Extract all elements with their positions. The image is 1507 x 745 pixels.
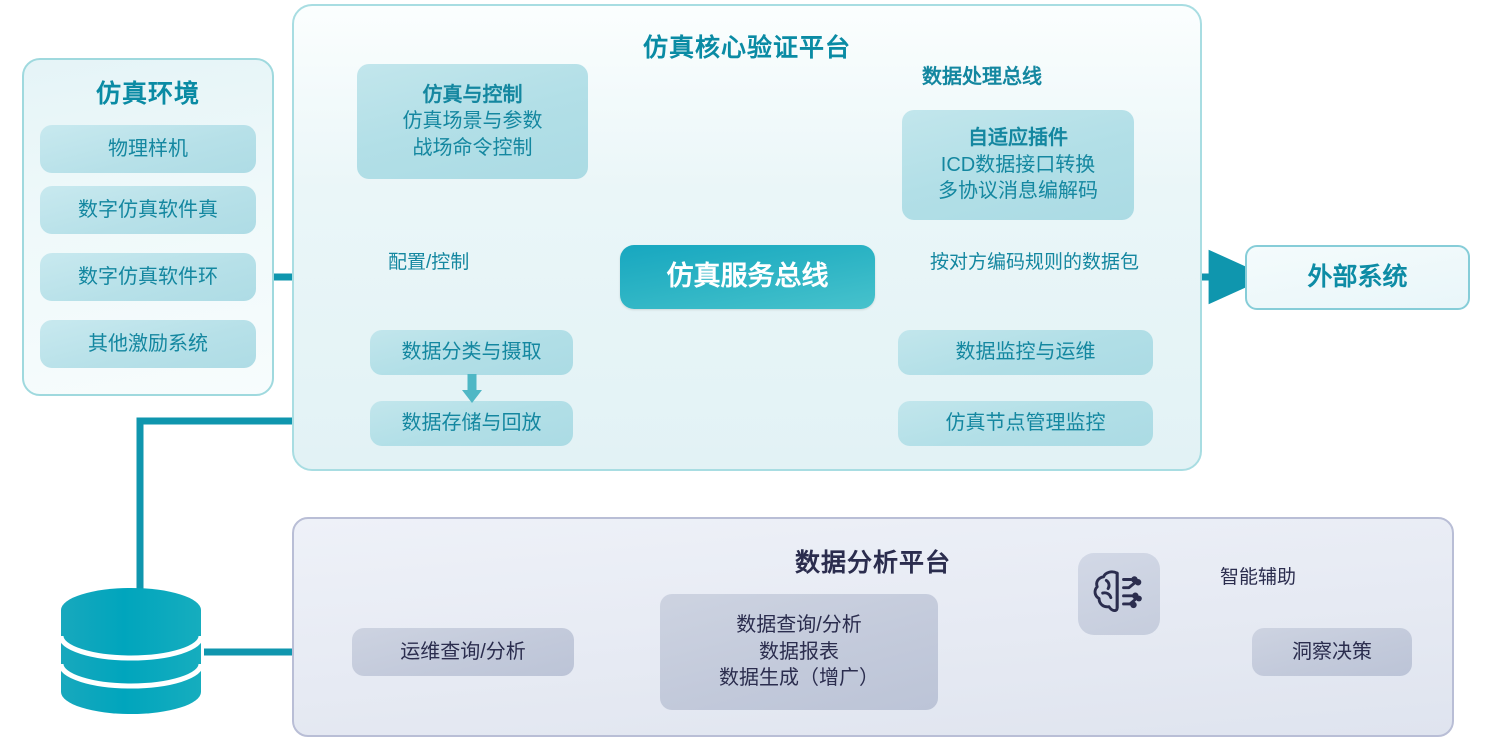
node-head: 自适应插件: [968, 125, 1068, 151]
node-sim-node-management-monitoring[interactable]: 仿真节点管理监控: [898, 401, 1153, 446]
node-external-system[interactable]: 外部系统: [1245, 245, 1470, 310]
env-item-label: 物理样机: [108, 136, 188, 162]
env-item-label: 其他激励系统: [88, 331, 208, 357]
node-ops-query-analysis[interactable]: 运维查询/分析: [352, 628, 574, 676]
label-config-control: 配置/控制: [388, 247, 469, 274]
node-data-monitoring-ops[interactable]: 数据监控与运维: [898, 330, 1153, 375]
node-simulation-service-bus[interactable]: 仿真服务总线: [620, 245, 875, 309]
label-intelligent-assistance: 智能辅助: [1220, 562, 1296, 589]
node-line3: 数据生成（增广）: [719, 665, 879, 691]
node-label: 仿真节点管理监控: [946, 410, 1106, 436]
architecture-diagram: 仿真环境 物理样机 数字仿真软件真 数字仿真软件环 其他激励系统 仿真核心验证平…: [0, 0, 1507, 745]
node-line2: 仿真场景与参数: [403, 108, 543, 134]
node-line3: 多协议消息编解码: [938, 178, 1098, 204]
node-line2: 数据报表: [759, 639, 839, 665]
node-label: 数据存储与回放: [402, 410, 542, 436]
node-line1: 数据查询/分析: [736, 612, 862, 638]
node-adaptive-plugin[interactable]: 自适应插件 ICD数据接口转换 多协议消息编解码: [902, 110, 1134, 220]
env-item-physical-prototype[interactable]: 物理样机: [40, 125, 256, 173]
label-encoded-packet: 按对方编码规则的数据包: [930, 247, 1139, 274]
node-head: 仿真与控制: [423, 82, 523, 108]
node-label: 外部系统: [1307, 261, 1407, 294]
node-line3: 战场命令控制: [413, 135, 533, 161]
label-data-processing-bus: 数据处理总线: [922, 60, 1042, 89]
node-line2: ICD数据接口转换: [941, 152, 1095, 178]
database-cylinder-icon: [58, 588, 204, 714]
node-label: 数据分类与摄取: [402, 339, 542, 365]
arrow-down-icon: [455, 372, 489, 406]
node-label: 数据监控与运维: [956, 339, 1096, 365]
node-label: 运维查询/分析: [400, 639, 526, 665]
brain-circuit-icon[interactable]: [1078, 553, 1160, 635]
env-item-label: 数字仿真软件环: [78, 264, 218, 290]
node-simulation-and-control[interactable]: 仿真与控制 仿真场景与参数 战场命令控制: [357, 64, 588, 179]
node-label: 洞察决策: [1292, 639, 1372, 665]
node-data-classification-ingest[interactable]: 数据分类与摄取: [370, 330, 573, 375]
node-data-query-report-generation[interactable]: 数据查询/分析 数据报表 数据生成（增广）: [660, 594, 938, 710]
core-platform-title: 仿真核心验证平台: [294, 28, 1200, 64]
env-item-label: 数字仿真软件真: [78, 197, 218, 223]
env-item-digital-sim-software-true[interactable]: 数字仿真软件真: [40, 186, 256, 234]
simulation-environment-title: 仿真环境: [24, 74, 272, 110]
node-data-storage-replay[interactable]: 数据存储与回放: [370, 401, 573, 446]
node-insight-decision[interactable]: 洞察决策: [1252, 628, 1412, 676]
env-item-other-stimulus-system[interactable]: 其他激励系统: [40, 320, 256, 368]
env-item-digital-sim-software-loop[interactable]: 数字仿真软件环: [40, 253, 256, 301]
node-label: 仿真服务总线: [667, 259, 829, 295]
